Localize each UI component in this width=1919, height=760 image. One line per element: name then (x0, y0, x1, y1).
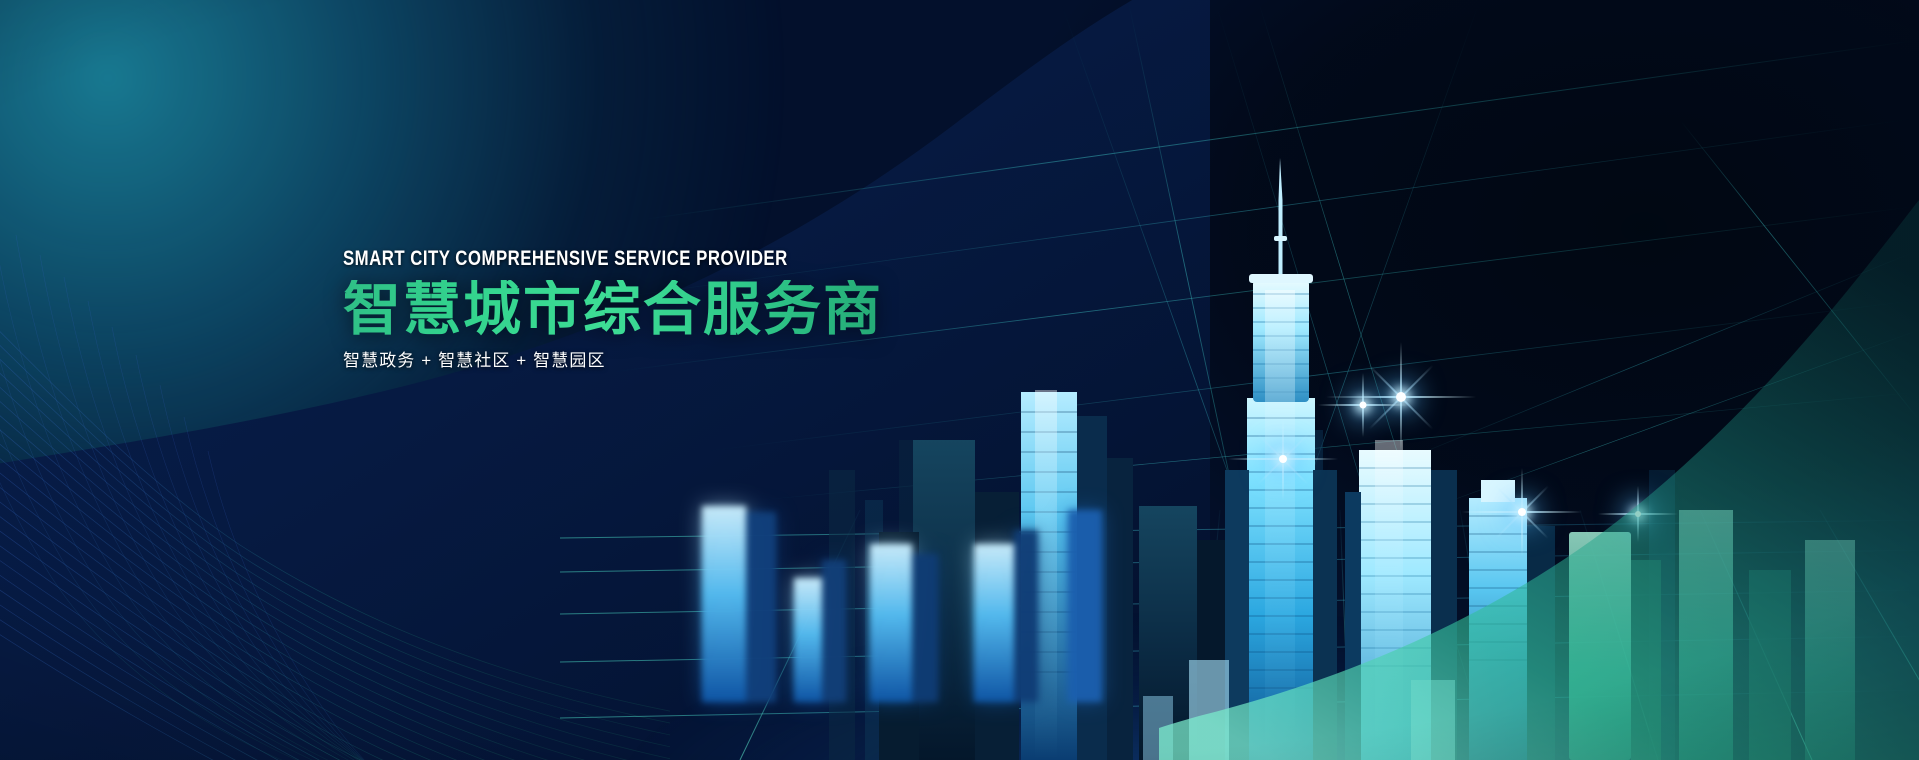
hero-eyebrow: SMART CITY COMPREHENSIVE SERVICE PROVIDE… (343, 248, 788, 269)
hero-tagline: 智慧政务 + 智慧社区 + 智慧园区 (343, 352, 899, 369)
foreground-bars (690, 482, 1250, 702)
smart-city-hero-banner: SMART CITY COMPREHENSIVE SERVICE PROVIDE… (0, 0, 1919, 760)
hero-headline: 智慧城市综合服务商 (343, 280, 899, 340)
hero-text-block: SMART CITY COMPREHENSIVE SERVICE PROVIDE… (343, 248, 899, 369)
